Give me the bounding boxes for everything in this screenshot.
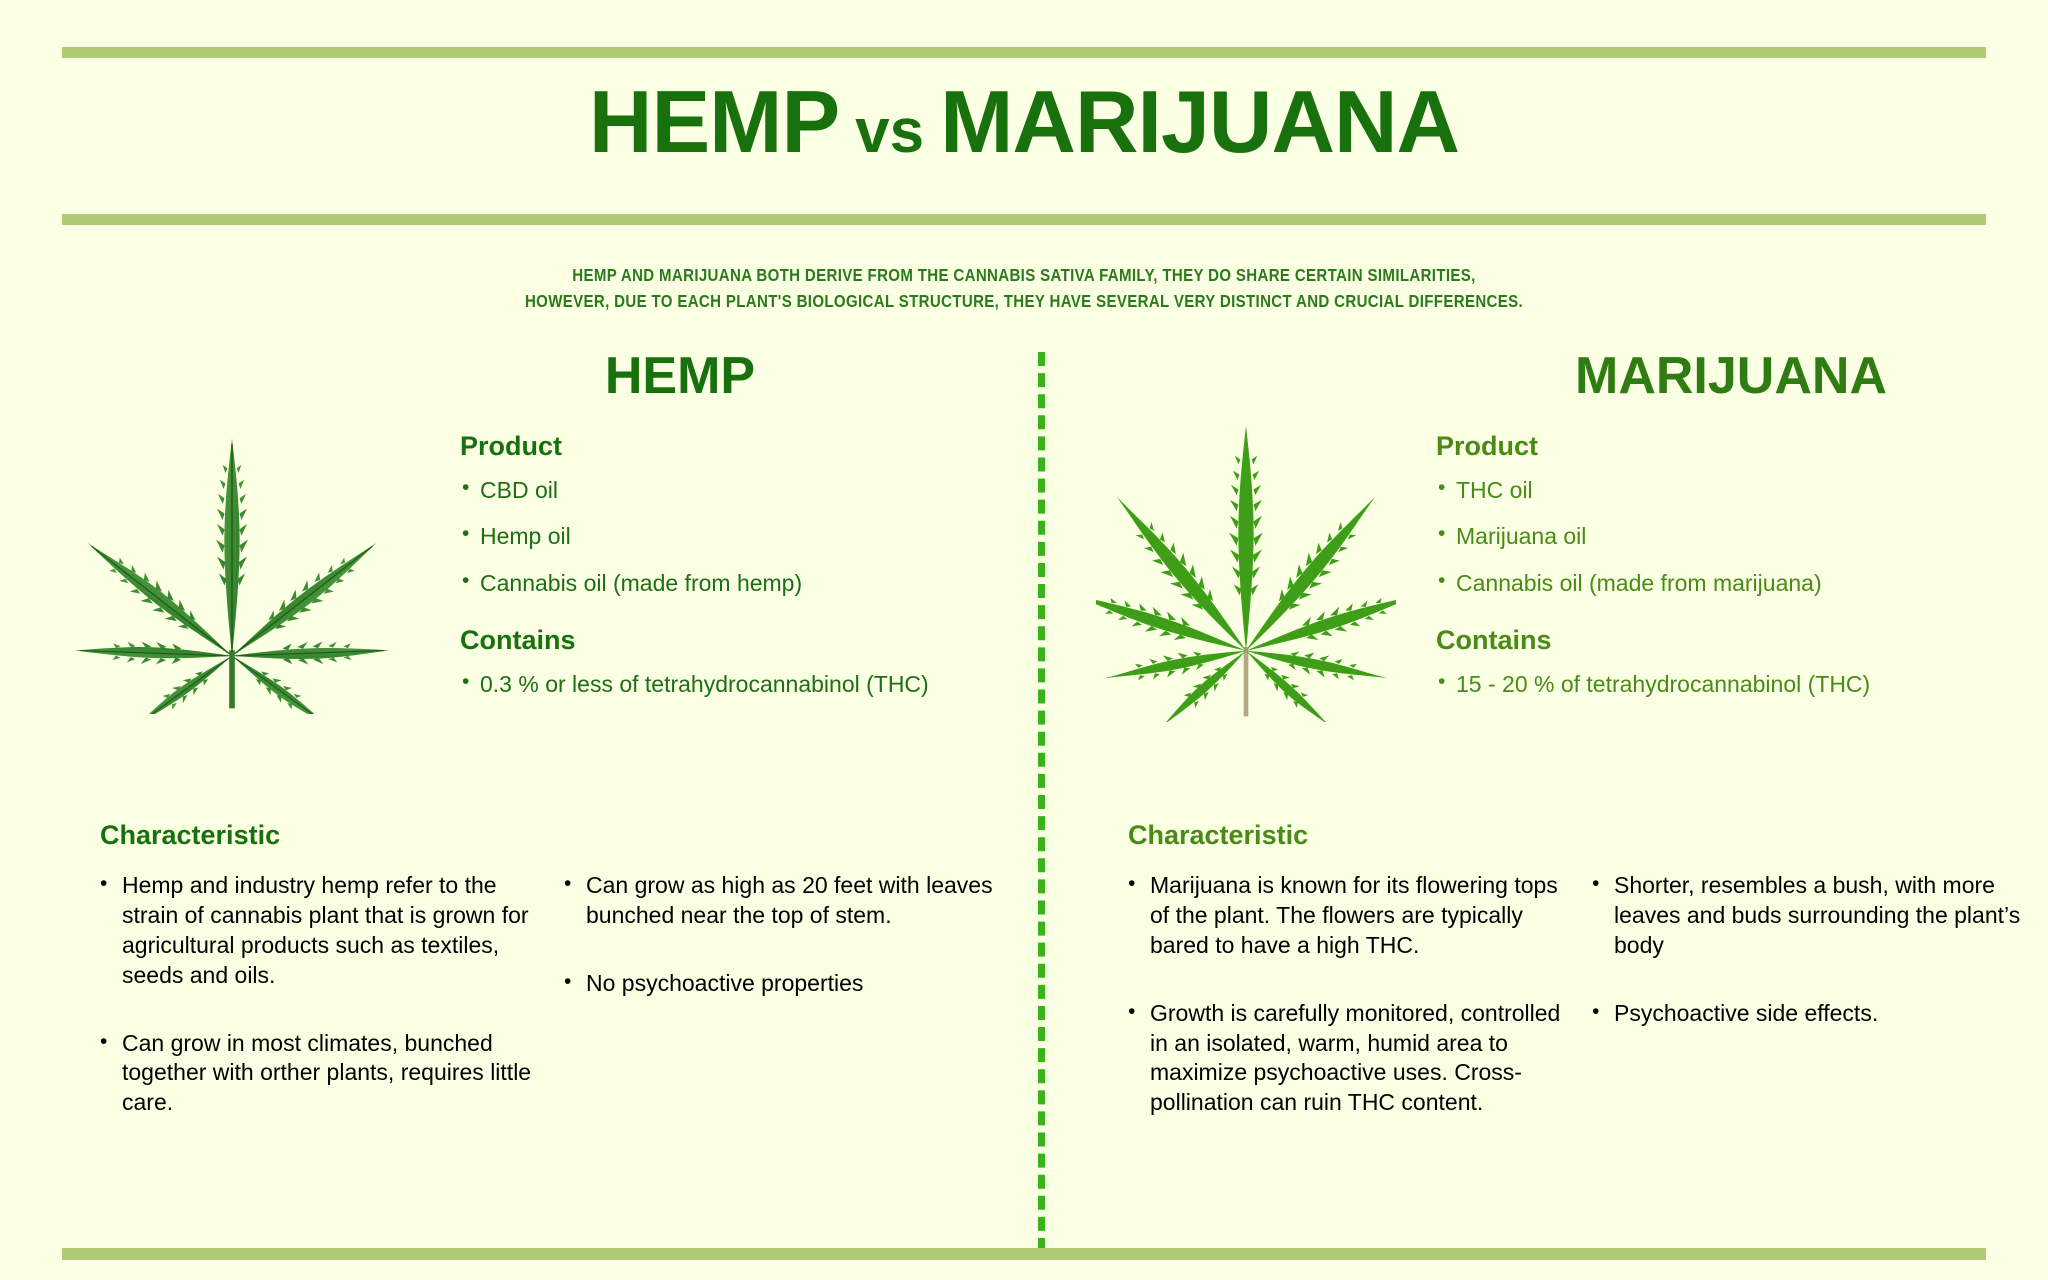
marijuana-contains-list: 15 - 20 % of tetrahydrocannabinol (THC) [1436, 670, 2006, 699]
marijuana-heading: MARIJUANA [1096, 350, 2026, 402]
list-item: Cannabis oil (made from hemp) [460, 569, 1000, 598]
list-item: Cannabis oil (made from marijuana) [1436, 569, 2006, 598]
title-marijuana: MARIJUANA [940, 72, 1459, 171]
list-item: Hemp and industry hemp refer to the stra… [100, 871, 536, 991]
marijuana-body: Product THC oil Marijuana oil Cannabis o… [1096, 432, 2026, 732]
hemp-characteristic-section: Characteristic Hemp and industry hemp re… [100, 820, 1000, 1156]
hemp-contains-block: Contains 0.3 % or less of tetrahydrocann… [460, 626, 1000, 699]
page-title: HEMPvsMARIJUANA [0, 78, 2048, 166]
list-item: 0.3 % or less of tetrahydrocannabinol (T… [460, 670, 1000, 699]
list-item: Hemp oil [460, 522, 1000, 551]
subtitle: HEMP AND MARIJUANA BOTH DERIVE FROM THE … [143, 262, 1904, 315]
title-vs: vs [839, 97, 940, 166]
vertical-dashed-divider [1038, 352, 1045, 1252]
list-item: Shorter, resembles a bush, with more lea… [1592, 871, 2028, 961]
top-divider-rule [62, 47, 1986, 58]
hemp-info: Product CBD oil Hemp oil Cannabis oil (m… [460, 432, 1000, 703]
subtitle-line-1: HEMP AND MARIJUANA BOTH DERIVE FROM THE … [143, 262, 1904, 288]
marijuana-contains-title: Contains [1436, 626, 2006, 656]
marijuana-info: Product THC oil Marijuana oil Cannabis o… [1436, 432, 2006, 703]
list-item: THC oil [1436, 476, 2006, 505]
marijuana-product-title: Product [1436, 432, 2006, 462]
list-item: No psychoactive properties [564, 969, 1000, 999]
subtitle-line-2: HOWEVER, DUE TO EACH PLANT'S BIOLOGICAL … [143, 288, 1904, 314]
list-item: Psychoactive side effects. [1592, 999, 2028, 1029]
list-item: CBD oil [460, 476, 1000, 505]
marijuana-column: MARIJUANA [1096, 350, 2026, 732]
title-underline-rule [62, 214, 1986, 225]
hemp-characteristic-left-list: Hemp and industry hemp refer to the stra… [100, 871, 536, 1156]
title-hemp: HEMP [589, 72, 839, 171]
list-item: Marijuana is known for its flowering top… [1128, 871, 1564, 961]
marijuana-characteristic-title: Characteristic [1128, 820, 2028, 851]
marijuana-contains-block: Contains 15 - 20 % of tetrahydrocannabin… [1436, 626, 2006, 699]
cannabis-leaf-icon [1096, 422, 1396, 722]
list-item: Growth is carefully monitored, controlle… [1128, 999, 1564, 1119]
marijuana-product-list: THC oil Marijuana oil Cannabis oil (made… [1436, 476, 2006, 598]
list-item: Can grow in most climates, bunched toget… [100, 1029, 536, 1119]
marijuana-characteristic-left-list: Marijuana is known for its flowering top… [1128, 871, 1564, 1156]
hemp-heading: HEMP [40, 350, 1020, 402]
list-item: Marijuana oil [1436, 522, 2006, 551]
infographic-page: HEMPvsMARIJUANA HEMP AND MARIJUANA BOTH … [0, 0, 2048, 1280]
hemp-characteristic-columns: Hemp and industry hemp refer to the stra… [100, 871, 1000, 1156]
hemp-product-title: Product [460, 432, 1000, 462]
hemp-body: Product CBD oil Hemp oil Cannabis oil (m… [40, 432, 1020, 732]
hemp-product-list: CBD oil Hemp oil Cannabis oil (made from… [460, 476, 1000, 598]
hemp-contains-list: 0.3 % or less of tetrahydrocannabinol (T… [460, 670, 1000, 699]
list-item: Can grow as high as 20 feet with leaves … [564, 871, 1000, 931]
marijuana-characteristic-right-list: Shorter, resembles a bush, with more lea… [1592, 871, 2028, 1156]
hemp-contains-title: Contains [460, 626, 1000, 656]
list-item: 15 - 20 % of tetrahydrocannabinol (THC) [1436, 670, 2006, 699]
hemp-column: HEMP [40, 350, 1020, 732]
hemp-characteristic-right-list: Can grow as high as 20 feet with leaves … [564, 871, 1000, 1156]
marijuana-characteristic-section: Characteristic Marijuana is known for it… [1128, 820, 2028, 1156]
bottom-divider-rule [62, 1248, 1986, 1260]
cannabis-leaf-icon [62, 414, 402, 714]
hemp-characteristic-title: Characteristic [100, 820, 1000, 851]
marijuana-characteristic-columns: Marijuana is known for its flowering top… [1128, 871, 2028, 1156]
